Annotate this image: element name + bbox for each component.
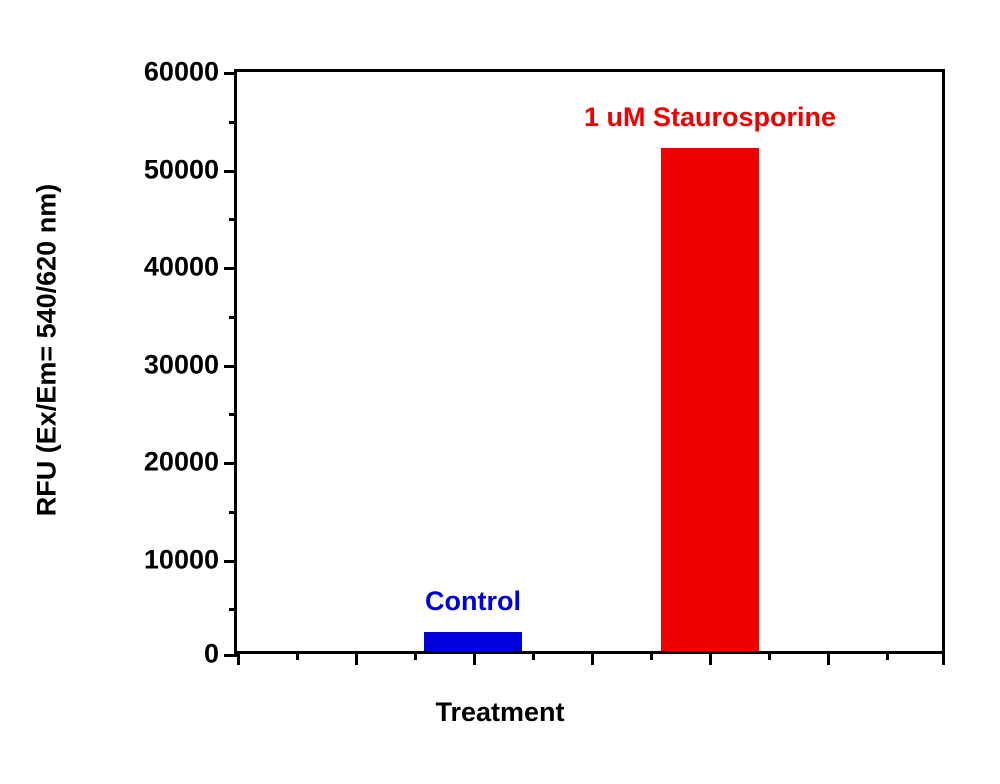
y-minor-tick-5000 [229,608,237,611]
bar-staurosporine[interactable] [661,148,759,651]
x-tick-major-6 [827,651,830,665]
y-tick-label-50000: 50000 [144,154,219,185]
y-tick-50000 [224,170,237,173]
x-tick-major-3 [473,651,476,665]
y-tick-label-60000: 60000 [144,57,219,88]
bar-chart-figure: RFU (Ex/Em= 540/620 nm) Treatment 60000 … [0,0,1000,784]
y-tick-20000 [224,462,237,465]
x-tick-minor-6 [886,651,889,660]
plot-area: 60000 50000 40000 30000 20000 10000 0 [234,69,945,654]
y-tick-label-10000: 10000 [144,544,219,575]
y-minor-tick-55000 [229,121,237,124]
y-tick-30000 [224,365,237,368]
y-tick-10000 [224,560,237,563]
bar-label-control: Control [425,586,521,617]
x-tick-minor-5 [768,651,771,660]
x-tick-minor-2 [414,651,417,660]
y-minor-tick-45000 [229,218,237,221]
x-tick-major-2 [355,651,358,665]
x-axis-title: Treatment [0,697,1000,728]
y-tick-60000 [224,72,237,75]
y-tick-0 [224,654,237,657]
y-tick-label-40000: 40000 [144,252,219,283]
y-minor-tick-25000 [229,413,237,416]
y-axis-title: RFU (Ex/Em= 540/620 nm) [32,184,63,516]
x-tick-minor-1 [296,651,299,660]
x-tick-major-5 [709,651,712,665]
x-tick-minor-4 [650,651,653,660]
x-tick-minor-3 [532,651,535,660]
y-tick-label-20000: 20000 [144,447,219,478]
x-tick-major-7 [942,651,945,665]
y-tick-40000 [224,267,237,270]
y-tick-label-30000: 30000 [144,349,219,380]
y-minor-tick-15000 [229,511,237,514]
x-tick-major-4 [591,651,594,665]
bar-label-staurosporine: 1 uM Staurosporine [584,102,836,133]
bar-control[interactable] [424,632,522,651]
y-minor-tick-35000 [229,316,237,319]
y-tick-label-0: 0 [204,639,219,670]
x-tick-major-1 [237,651,240,665]
